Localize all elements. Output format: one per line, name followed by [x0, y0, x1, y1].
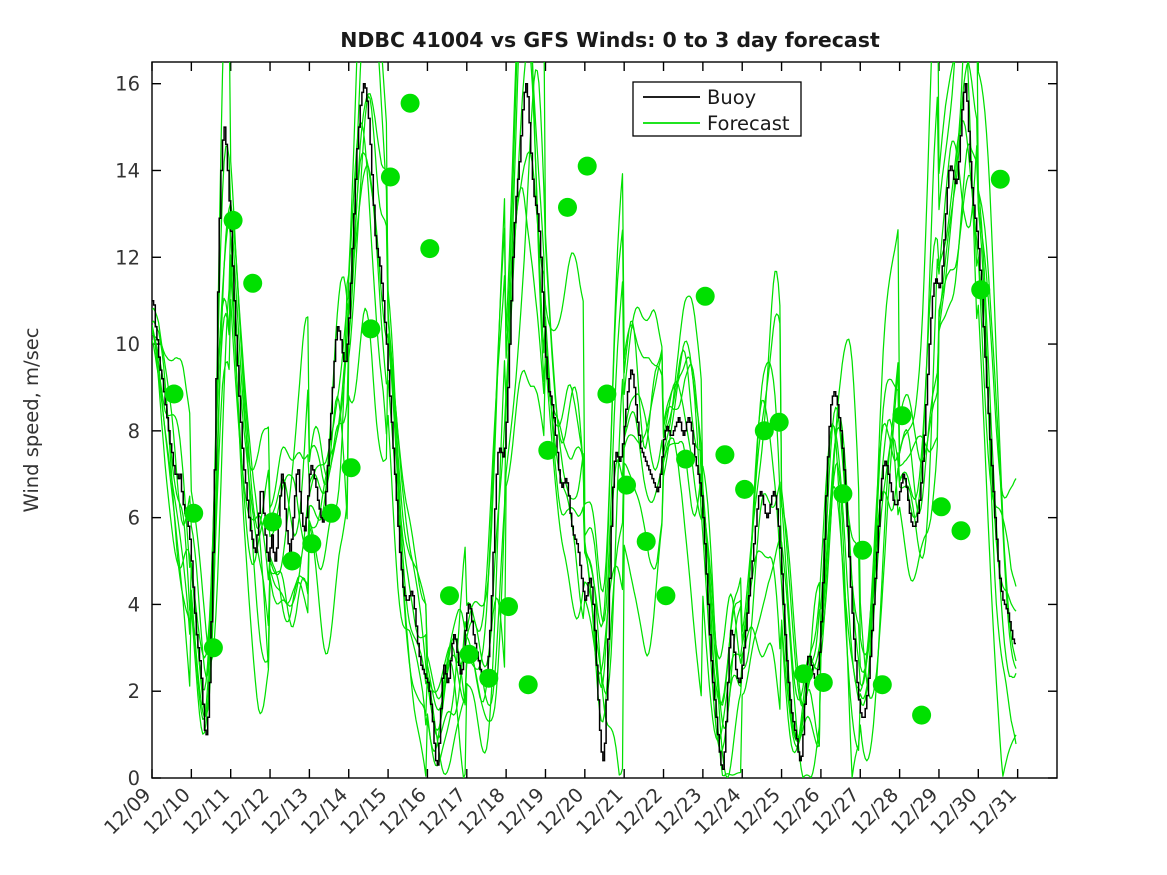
forecast-marker [833, 484, 852, 503]
chart-legend[interactable]: Buoy Forecast [633, 82, 801, 136]
forecast-marker [912, 706, 931, 725]
figure-canvas: NDBC 41004 vs GFS Winds: 0 to 3 day fore… [0, 0, 1167, 875]
forecast-marker [184, 504, 203, 523]
page-title: NDBC 41004 vs GFS Winds: 0 to 3 day fore… [340, 28, 880, 52]
forecast-marker [519, 675, 538, 694]
forecast-marker [558, 198, 577, 217]
forecast-marker [204, 638, 223, 657]
forecast-marker [538, 441, 557, 460]
forecast-marker [696, 287, 715, 306]
forecast-marker [420, 239, 439, 258]
y-tick-label: 8 [128, 420, 140, 443]
forecast-marker [283, 552, 302, 571]
wind-speed-chart: NDBC 41004 vs GFS Winds: 0 to 3 day fore… [0, 0, 1167, 875]
y-tick-label: 16 [115, 73, 140, 96]
y-tick-label: 14 [115, 159, 140, 182]
forecast-marker [243, 274, 262, 293]
forecast-marker [499, 597, 518, 616]
forecast-marker [322, 504, 341, 523]
forecast-marker [971, 280, 990, 299]
forecast-marker [224, 211, 243, 230]
forecast-marker [342, 458, 361, 477]
forecast-marker [617, 476, 636, 495]
forecast-marker [952, 521, 971, 540]
y-tick-label: 10 [115, 333, 140, 356]
y-tick-label: 4 [128, 593, 140, 616]
forecast-marker [263, 513, 282, 532]
forecast-marker [361, 319, 380, 338]
forecast-marker [853, 541, 872, 560]
forecast-marker [440, 586, 459, 605]
forecast-marker [814, 673, 833, 692]
forecast-marker [715, 445, 734, 464]
forecast-marker [794, 664, 813, 683]
y-tick-label: 6 [128, 507, 140, 530]
forecast-marker [479, 669, 498, 688]
forecast-marker [401, 94, 420, 113]
forecast-marker [893, 406, 912, 425]
y-tick-label: 12 [115, 246, 140, 269]
forecast-marker [932, 497, 951, 516]
legend-label-buoy: Buoy [707, 86, 756, 109]
forecast-marker [578, 157, 597, 176]
forecast-marker [873, 675, 892, 694]
forecast-marker [597, 385, 616, 404]
forecast-marker [991, 170, 1010, 189]
forecast-marker [676, 450, 695, 469]
forecast-marker [381, 168, 400, 187]
forecast-marker [735, 480, 754, 499]
y-axis-label: Wind speed, m/sec [20, 328, 43, 513]
forecast-marker [460, 645, 479, 664]
y-tick-label: 2 [128, 680, 140, 703]
forecast-marker [637, 532, 656, 551]
forecast-marker [770, 413, 789, 432]
legend-label-forecast: Forecast [707, 112, 790, 135]
forecast-marker [165, 385, 184, 404]
forecast-marker [302, 534, 321, 553]
forecast-marker [656, 586, 675, 605]
